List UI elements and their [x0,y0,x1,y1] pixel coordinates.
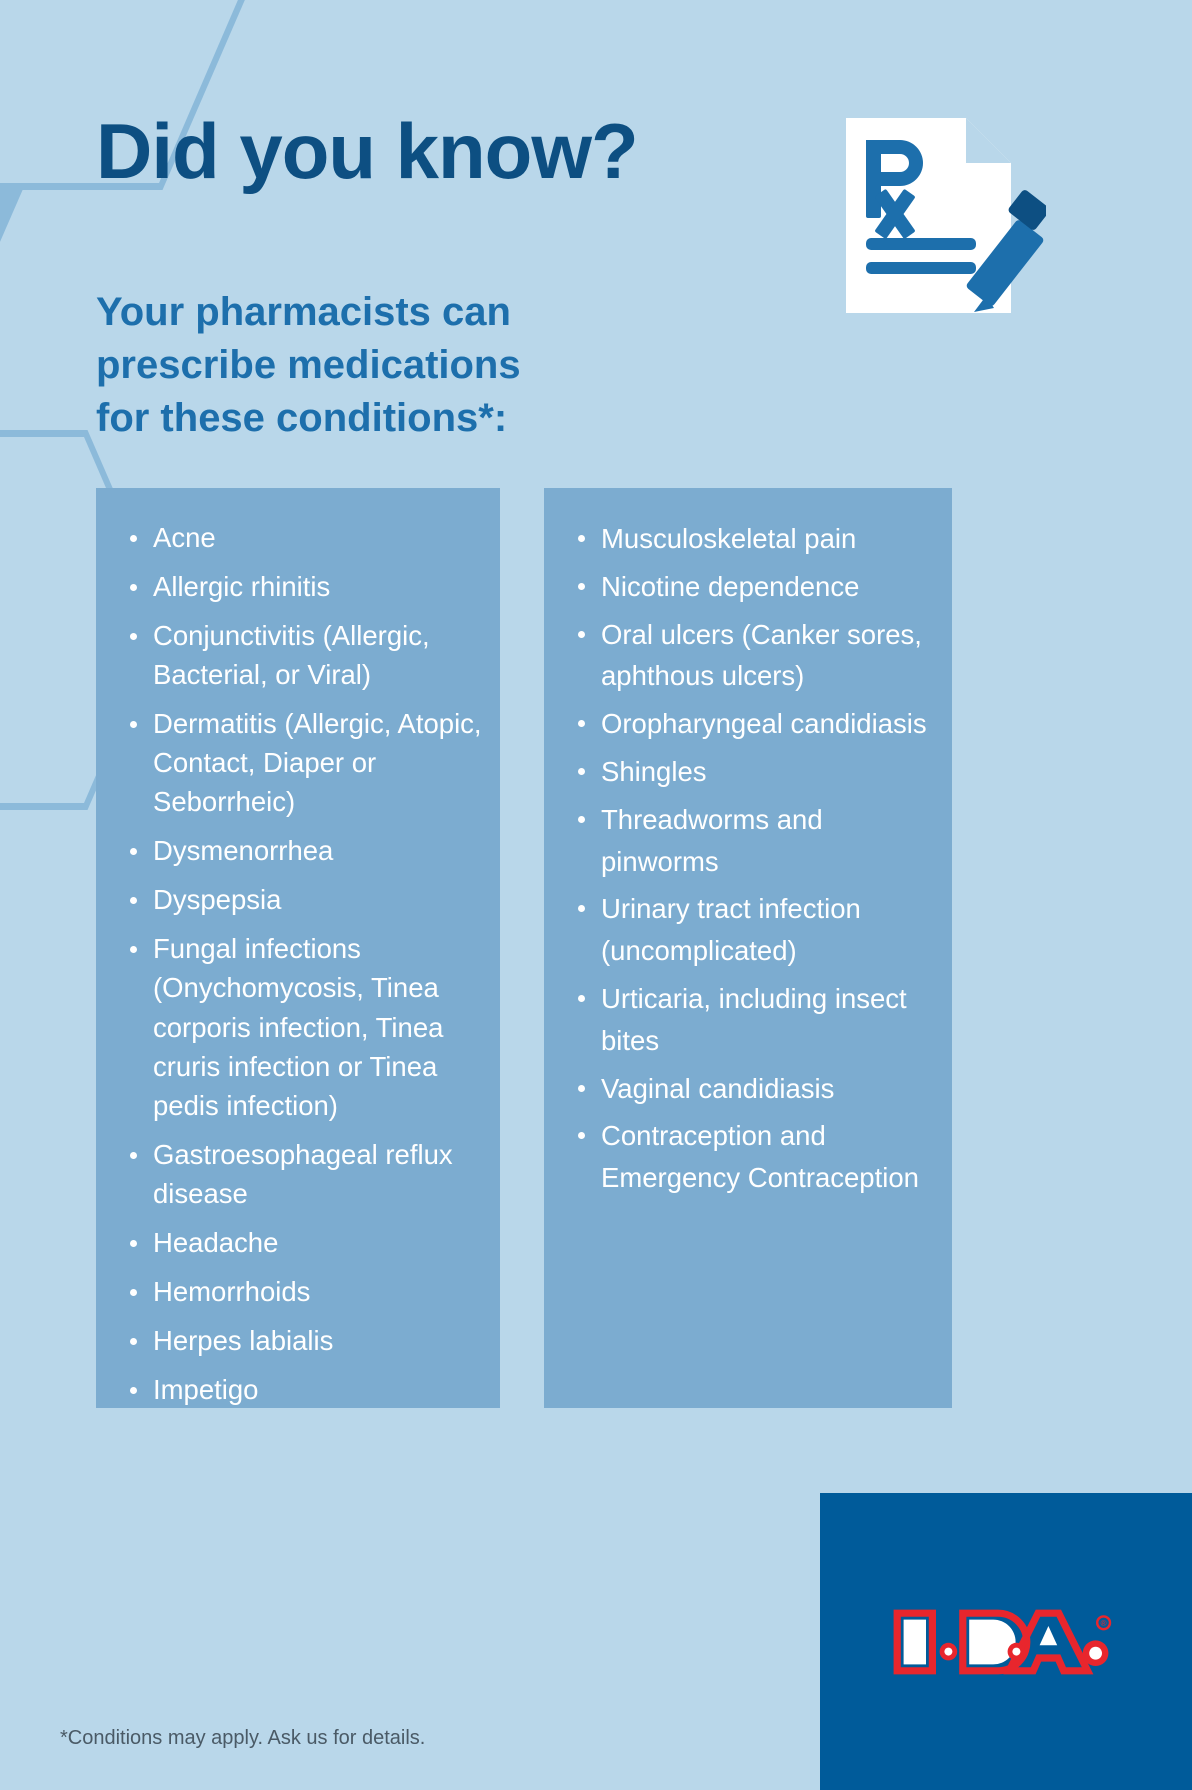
condition-item: Conjunctivitis (Allergic, Bacterial, or … [126,616,482,694]
poster-canvas: Did you know? Your pharmacists can presc… [0,0,1192,1790]
condition-item: Dyspepsia [126,880,482,919]
condition-item: Dermatitis (Allergic, Atopic, Contact, D… [126,704,482,821]
condition-item: Oropharyngeal candidiasis [574,703,934,745]
condition-item: Urinary tract infection (uncomplicated) [574,888,934,972]
condition-item: Urticaria, including insect bites [574,978,934,1062]
ida-logo-panel: ® [820,1493,1192,1790]
condition-item: Herpes labialis [126,1321,482,1360]
condition-item: Contraception and Emergency Contraceptio… [574,1115,934,1199]
subheading-line-1: Your pharmacists can [96,286,656,339]
conditions-panel-left: AcneAllergic rhinitisConjunctivitis (All… [96,488,500,1408]
condition-item: Acne [126,518,482,557]
registered-mark: ® [1101,1619,1107,1628]
subheading-line-3: for these conditions*: [96,392,656,445]
condition-item: Headache [126,1223,482,1262]
condition-item: Threadworms and pinworms [574,799,934,883]
footnote: *Conditions may apply. Ask us for detail… [60,1727,425,1750]
conditions-panel-right: Musculoskeletal painNicotine dependenceO… [544,488,952,1408]
subheading: Your pharmacists can prescribe medicatio… [96,286,656,444]
condition-item: Shingles [574,751,934,793]
condition-item: Impetigo [126,1370,482,1409]
condition-item: Gastroesophageal reflux disease [126,1135,482,1213]
condition-item: Fungal infections (Onychomycosis, Tinea … [126,929,482,1124]
rx-prescription-pad-icon [836,110,1046,325]
subheading-line-2: prescribe medications [96,339,656,392]
condition-item: Nicotine dependence [574,566,934,608]
page-title: Did you know? [96,112,638,190]
conditions-list-left: AcneAllergic rhinitisConjunctivitis (All… [96,488,500,1409]
condition-item: Vaginal candidiasis [574,1068,934,1110]
conditions-list-right: Musculoskeletal painNicotine dependenceO… [544,488,952,1199]
condition-item: Allergic rhinitis [126,567,482,606]
condition-item: Musculoskeletal pain [574,518,934,560]
condition-item: Hemorrhoids [126,1272,482,1311]
condition-item: Oral ulcers (Canker sores, aphthous ulce… [574,614,934,698]
ida-logo: ® [886,1601,1126,1683]
hexagon-filled-top-right [0,0,40,420]
condition-item: Dysmenorrhea [126,831,482,870]
